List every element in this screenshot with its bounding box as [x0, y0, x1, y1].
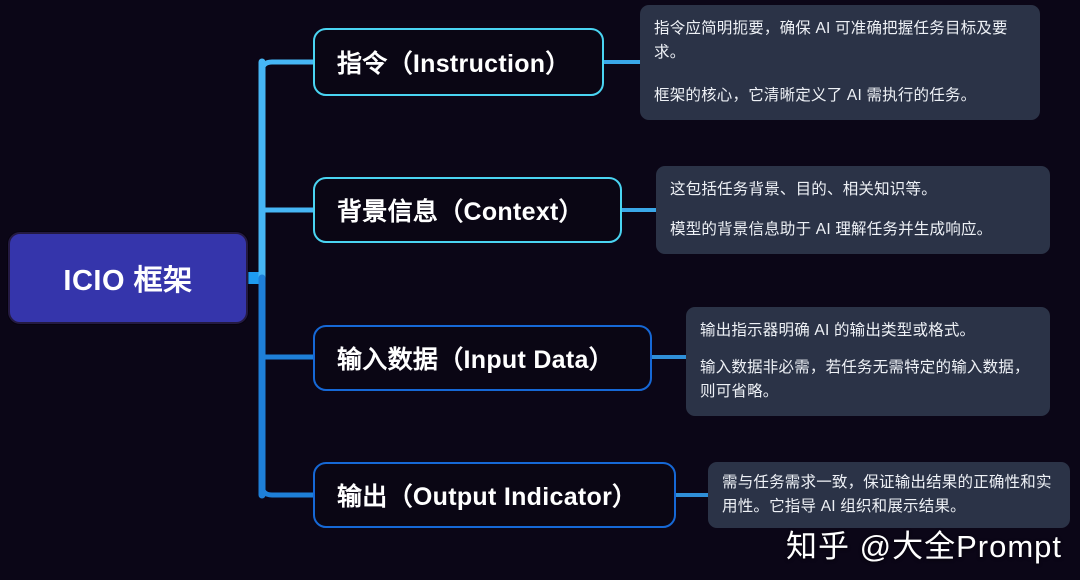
paragraph-spacer	[670, 202, 1034, 218]
description-paragraph: 指令应简明扼要，确保 AI 可准确把握任务目标及要求。	[654, 17, 1024, 65]
branch-wire-4	[262, 485, 313, 495]
topic-label-instruction: 指令（Instruction）	[337, 44, 571, 80]
mindmap-canvas: ICIO 框架 指令（Instruction） 指令应简明扼要，确保 AI 可准…	[0, 0, 1080, 580]
root-node[interactable]: ICIO 框架	[8, 232, 248, 324]
topic-node-context[interactable]: 背景信息（Context）	[313, 177, 622, 243]
description-card-context[interactable]: 这包括任务背景、目的、相关知识等。 模型的背景信息助于 AI 理解任务并生成响应…	[656, 166, 1050, 254]
branch-wire-1	[262, 62, 313, 72]
topic-label-output-indicator: 输出（Output Indicator）	[337, 477, 637, 513]
description-card-output-indicator[interactable]: 需与任务需求一致，保证输出结果的正确性和实用性。它指导 AI 组织和展示结果。	[708, 462, 1070, 528]
topic-node-instruction[interactable]: 指令（Instruction）	[313, 28, 604, 96]
description-card-instruction[interactable]: 指令应简明扼要，确保 AI 可准确把握任务目标及要求。 框架的核心，它清晰定义了…	[640, 5, 1040, 120]
description-paragraph: 框架的核心，它清晰定义了 AI 需执行的任务。	[654, 84, 1024, 108]
watermark: 知乎 @大全Prompt	[786, 521, 1062, 566]
topic-node-input-data[interactable]: 输入数据（Input Data）	[313, 325, 652, 391]
topic-label-input-data: 输入数据（Input Data）	[337, 340, 614, 376]
root-node-label: ICIO 框架	[63, 257, 192, 299]
topic-node-output-indicator[interactable]: 输出（Output Indicator）	[313, 462, 676, 528]
paragraph-spacer	[700, 343, 1034, 356]
description-paragraph: 这包括任务背景、目的、相关知识等。	[670, 178, 1034, 202]
description-paragraph: 输出指示器明确 AI 的输出类型或格式。	[700, 319, 1034, 343]
description-card-input-data[interactable]: 输出指示器明确 AI 的输出类型或格式。 输入数据非必需，若任务无需特定的输入数…	[686, 307, 1050, 416]
description-paragraph: 输入数据非必需，若任务无需特定的输入数据，则可省略。	[700, 356, 1034, 404]
description-paragraph: 模型的背景信息助于 AI 理解任务并生成响应。	[670, 218, 1034, 242]
topic-label-context: 背景信息（Context）	[337, 192, 584, 228]
paragraph-spacer	[654, 66, 1024, 84]
description-paragraph: 需与任务需求一致，保证输出结果的正确性和实用性。它指导 AI 组织和展示结果。	[722, 471, 1054, 519]
